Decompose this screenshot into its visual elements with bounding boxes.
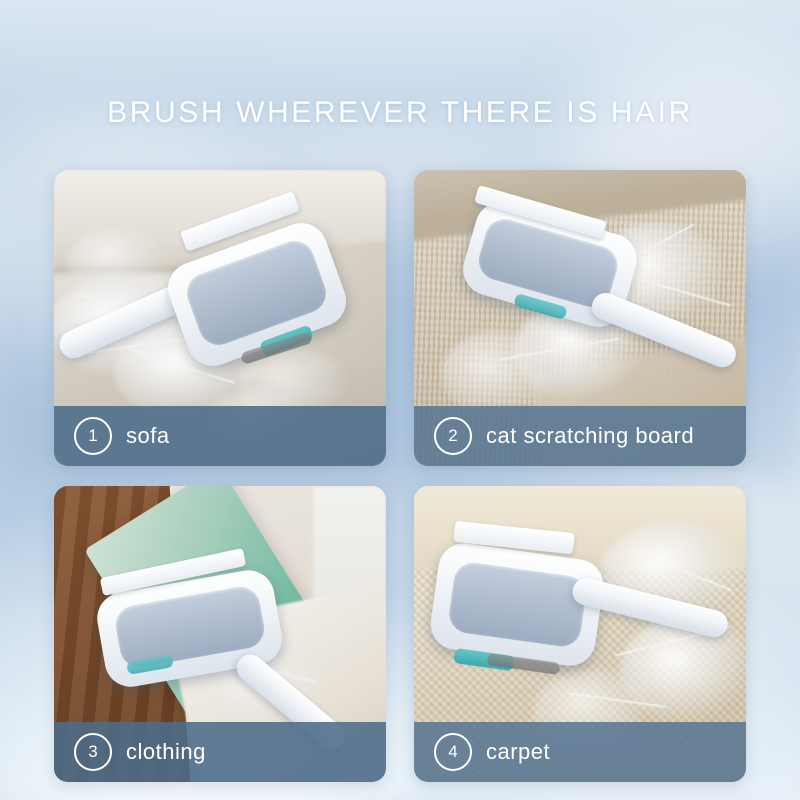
sofa-cushion <box>221 237 386 381</box>
scene-card-cat-scratching-board: 2 cat scratching board <box>414 170 746 466</box>
step-badge-4: 4 <box>434 733 472 771</box>
caption-bar-cat-scratching-board: 2 cat scratching board <box>414 406 746 466</box>
caption-bar-carpet: 4 carpet <box>414 722 746 782</box>
step-badge-3: 3 <box>74 733 112 771</box>
scene-card-clothing: 3 clothing <box>54 486 386 782</box>
caption-label-cat-scratching-board: cat scratching board <box>486 423 694 449</box>
step-badge-2: 2 <box>434 417 472 455</box>
usage-scenes-grid: 1 sofa <box>54 170 746 782</box>
caption-label-clothing: clothing <box>126 739 206 765</box>
scene-card-carpet: 4 carpet <box>414 486 746 782</box>
brush-handle <box>55 275 206 363</box>
pet-hair-clump <box>54 277 200 378</box>
hair-strand <box>88 332 227 353</box>
step-badge-1: 1 <box>74 417 112 455</box>
caption-bar-sofa: 1 sofa <box>54 406 386 466</box>
hair-strand <box>129 348 234 384</box>
page-title: BRUSH WHEREVER THERE IS HAIR <box>0 96 800 130</box>
scene-card-sofa: 1 sofa <box>54 170 386 466</box>
caption-label-sofa: sofa <box>126 423 170 449</box>
caption-label-carpet: carpet <box>486 739 550 765</box>
product-poster: BRUSH WHEREVER THERE IS HAIR <box>0 0 800 800</box>
hair-strand <box>75 294 193 321</box>
carpet-upper-area <box>414 486 746 569</box>
caption-bar-clothing: 3 clothing <box>54 722 386 782</box>
background-band-top <box>0 0 800 190</box>
